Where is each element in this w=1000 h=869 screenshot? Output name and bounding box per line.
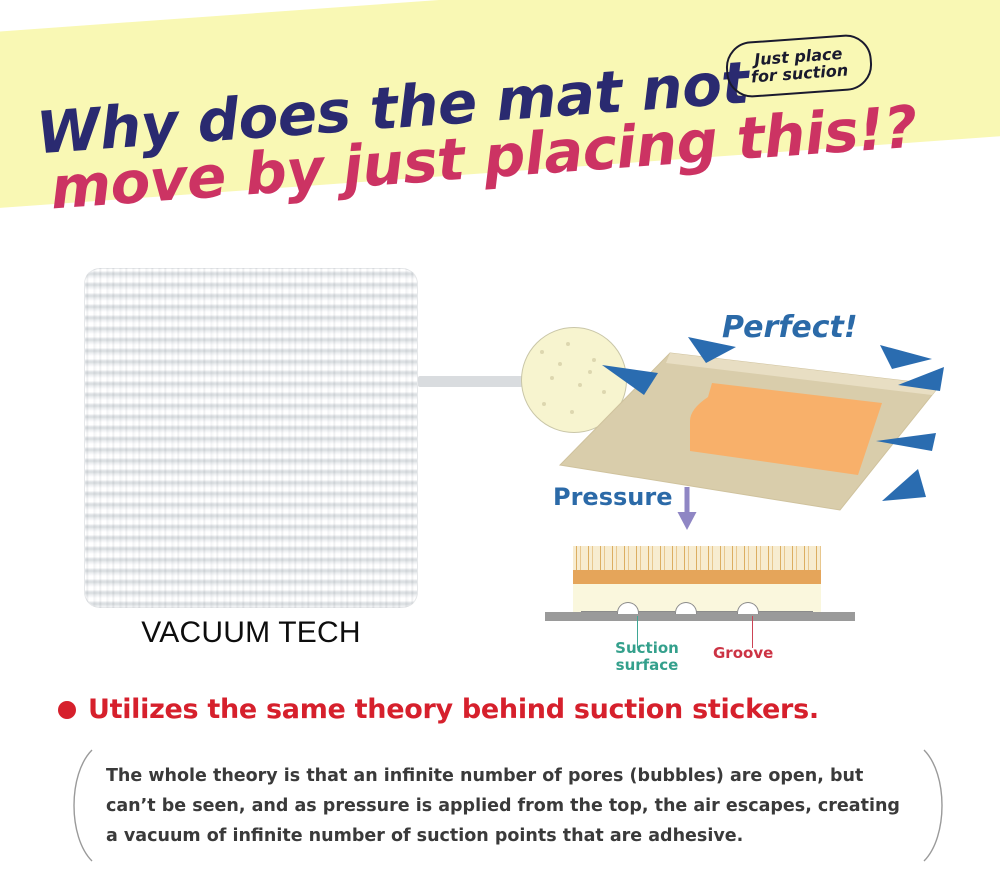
callout-stem xyxy=(418,376,534,387)
bracket-left-icon xyxy=(58,748,98,863)
mat-photo-block: VACUUM TECH xyxy=(84,268,418,608)
pressure-down-arrow-icon xyxy=(676,487,698,531)
pressure-label: Pressure xyxy=(553,483,672,511)
mat-texture-overlay xyxy=(84,268,418,608)
arrow-triangle xyxy=(882,469,926,501)
banner: Why does the mat not move by just placin… xyxy=(0,0,1000,248)
bullet-dot-icon xyxy=(58,701,76,719)
body-paragraph: The whole theory is that an infinite num… xyxy=(106,761,906,851)
suction-surface-label: Suction surface xyxy=(604,640,690,674)
bracket-right-icon xyxy=(918,748,958,863)
floor-surface-bar xyxy=(545,612,855,621)
pile-fiber-layer xyxy=(573,546,821,570)
tagline-row: Utilizes the same theory behind suction … xyxy=(58,694,819,725)
badge-line-2: for suction xyxy=(750,63,848,87)
orange-backing-layer xyxy=(573,570,821,584)
mat-caption: VACUUM TECH xyxy=(84,616,418,650)
just-place-badge: Just place for suction xyxy=(724,33,874,99)
suction-surface-label-line-1: Suction xyxy=(615,639,679,657)
tagline-text: Utilizes the same theory behind suction … xyxy=(88,694,819,725)
ribbed-mat-image xyxy=(84,268,418,608)
arrow-triangle xyxy=(880,345,932,369)
contact-line xyxy=(581,611,617,613)
body-panel: The whole theory is that an infinite num… xyxy=(58,748,958,863)
contact-line xyxy=(695,611,737,613)
groove-label: Groove xyxy=(713,644,773,662)
contact-line xyxy=(637,611,675,613)
suction-surface-label-line-2: surface xyxy=(616,656,679,674)
cross-section-diagram xyxy=(545,540,855,635)
contact-line xyxy=(757,611,813,613)
foam-body-layer xyxy=(573,584,821,612)
